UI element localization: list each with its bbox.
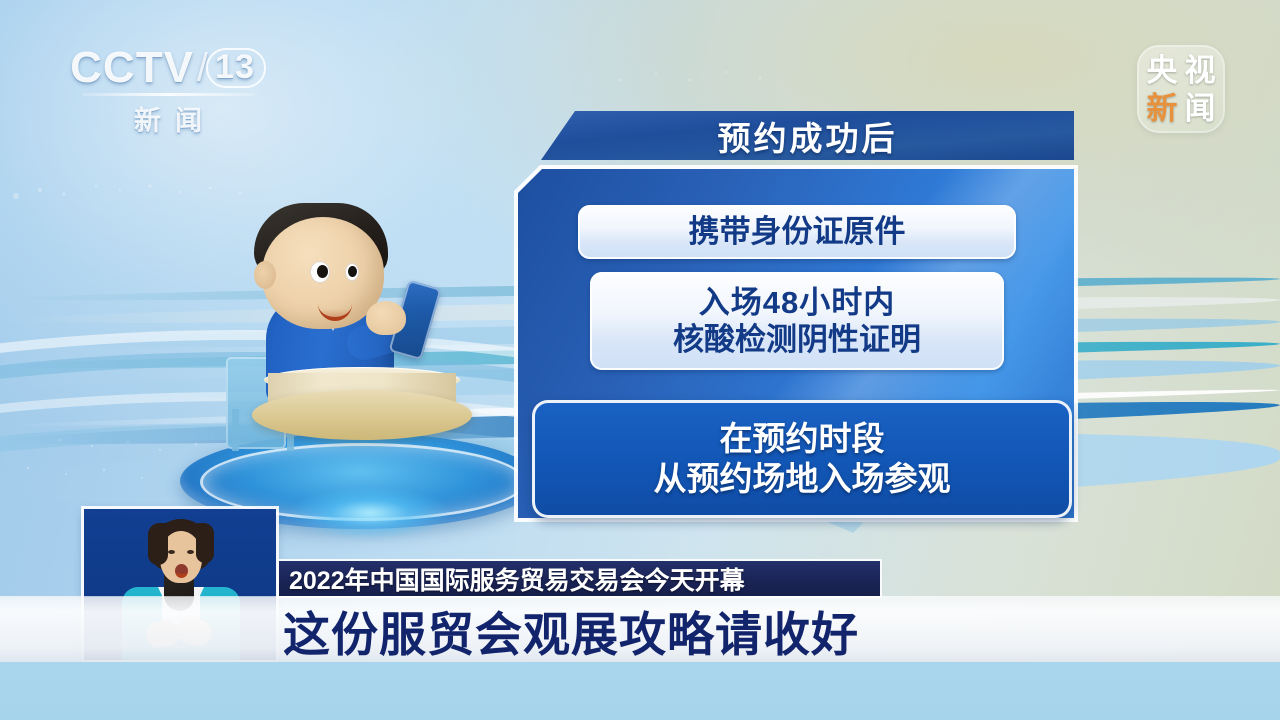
bottom-fill-area: [0, 662, 1280, 720]
interpreter-hair-left: [148, 523, 168, 565]
lower-third-headline: 这份服贸会观展攻略请收好: [283, 598, 859, 662]
lower-third-kicker-strip: 2022年中国国际服务贸易交易会今天开幕: [279, 561, 880, 596]
infographic-item-3-line-1: 在预约时段: [720, 420, 885, 458]
interpreter-eye-left: [168, 550, 175, 554]
infographic-banner-title: 预约成功后: [541, 111, 1074, 160]
infographic-item-1-line-1: 携带身份证原件: [689, 215, 906, 248]
broadcast-screen: CCTV / 13 新闻 央 视 新 闻: [0, 0, 1280, 720]
interpreter-eye-right: [187, 550, 194, 554]
infographic-item-1: 携带身份证原件: [578, 205, 1016, 259]
infographic-item-2-line-2: 核酸检测阴性证明: [673, 323, 921, 356]
interpreter-hair-right: [196, 523, 214, 563]
infographic-item-2: 入场48小时内 核酸检测阴性证明: [590, 272, 1004, 370]
infographic-item-3: 在预约时段 从预约场地入场参观: [532, 400, 1072, 518]
infographic-item-3-line-2: 从预约场地入场参观: [654, 460, 951, 498]
infographic-item-2-line-1: 入场48小时内: [699, 286, 895, 319]
interpreter-mouth: [175, 564, 188, 578]
lower-third-kicker: 2022年中国国际服务贸易交易会今天开幕: [289, 561, 745, 597]
